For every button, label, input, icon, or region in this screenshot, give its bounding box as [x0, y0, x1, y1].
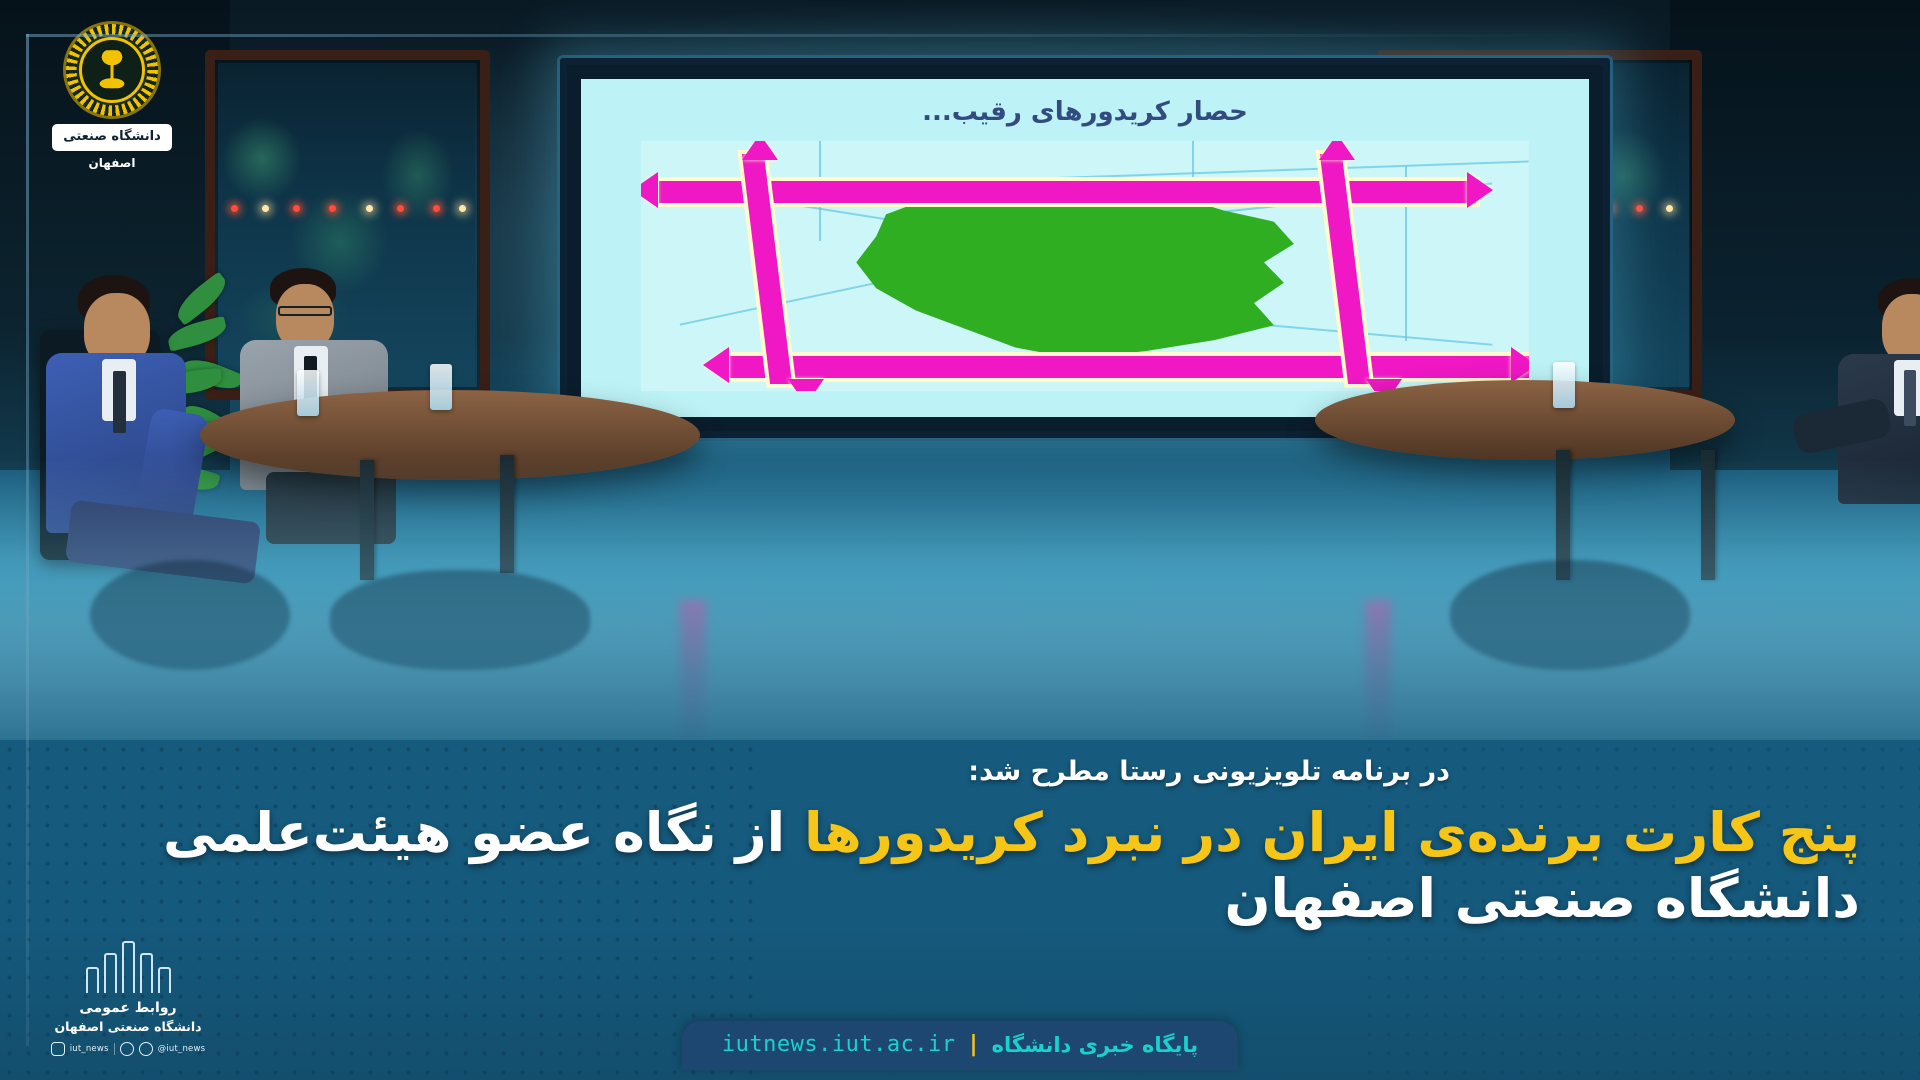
site-label: پایگاه خبری دانشگاه — [992, 1033, 1199, 1057]
headline: پنج کارت برنده‌ی ایران در نبرد کریدورها … — [60, 800, 1860, 932]
water-glass — [430, 364, 452, 410]
led-screen-content: حصار کریدورهای رقیب... — [581, 79, 1589, 417]
arrowhead-left-bottom — [788, 379, 824, 392]
kicker-text: در برنامه تلویزیونی رستا مطرح شد: — [968, 756, 1450, 787]
corridor-map — [641, 141, 1529, 391]
necktie — [113, 371, 126, 433]
arrowhead-top-left — [641, 172, 658, 208]
pr-line-1: روابط عمومی — [48, 1000, 208, 1016]
water-glass — [297, 370, 319, 416]
screen-title: حصار کریدورهای رقیب... — [581, 97, 1589, 127]
university-logo-wordmark: دانشگاه صنعتی — [52, 124, 172, 151]
social-divider — [114, 1043, 115, 1055]
desk-right — [1315, 380, 1735, 460]
arrowhead-bottom-right — [1511, 347, 1529, 383]
necktie — [1904, 370, 1916, 426]
arrowhead-left-top — [742, 141, 778, 160]
separator-divider: | — [970, 1032, 978, 1057]
social-handles: iut_news @iut_news — [48, 1042, 208, 1056]
public-relations-logo: روابط عمومی دانشگاه صنعتی اصفهان iut_new… — [48, 937, 208, 1056]
university-logo-top: دانشگاه صنعتی اصفهان — [52, 24, 172, 170]
site-url-bar[interactable]: پایگاه خبری دانشگاه | iutnews.iut.ac.ir — [682, 1021, 1238, 1070]
eyeglasses — [278, 306, 332, 316]
arrowhead-top-right — [1467, 172, 1493, 208]
news-card: حصار کریدورهای رقیب... — [0, 0, 1920, 1080]
water-glass — [1553, 362, 1575, 408]
telegram-icon[interactable] — [120, 1042, 134, 1056]
instagram-icon[interactable] — [51, 1042, 65, 1056]
studio-led-screen: حصار کریدورهای رقیب... — [560, 58, 1610, 438]
headline-rest: از نگاه عضو هیئت‌علمی — [163, 801, 804, 864]
torch-emblem-icon — [95, 50, 129, 88]
university-seal-icon — [66, 24, 158, 116]
headline-line-2: دانشگاه صنعتی اصفهان — [60, 866, 1860, 932]
telegram-handle: @iut_news — [158, 1044, 206, 1054]
arrowhead-right-top — [1319, 141, 1355, 160]
instagram-handle: iut_news — [70, 1044, 109, 1054]
headline-line-1: پنج کارت برنده‌ی ایران در نبرد کریدورها … — [60, 800, 1860, 866]
campus-building-icon — [48, 937, 208, 993]
university-logo-city: اصفهان — [52, 156, 172, 170]
site-url-link[interactable]: iutnews.iut.ac.ir — [722, 1032, 956, 1057]
corridor-arrow-top — [659, 181, 1476, 203]
pr-line-2: دانشگاه صنعتی اصفهان — [48, 1019, 208, 1034]
headline-highlight: پنج کارت برنده‌ی ایران در نبرد کریدورها — [804, 801, 1860, 864]
corridor-arrow-bottom — [730, 356, 1529, 378]
logo-line-1: دانشگاه صنعتی — [60, 130, 164, 145]
arrowhead-bottom-left — [703, 347, 729, 383]
whatsapp-icon[interactable] — [139, 1042, 153, 1056]
decorative-rule-left — [26, 34, 29, 1046]
decorative-rule-top — [26, 34, 1596, 37]
